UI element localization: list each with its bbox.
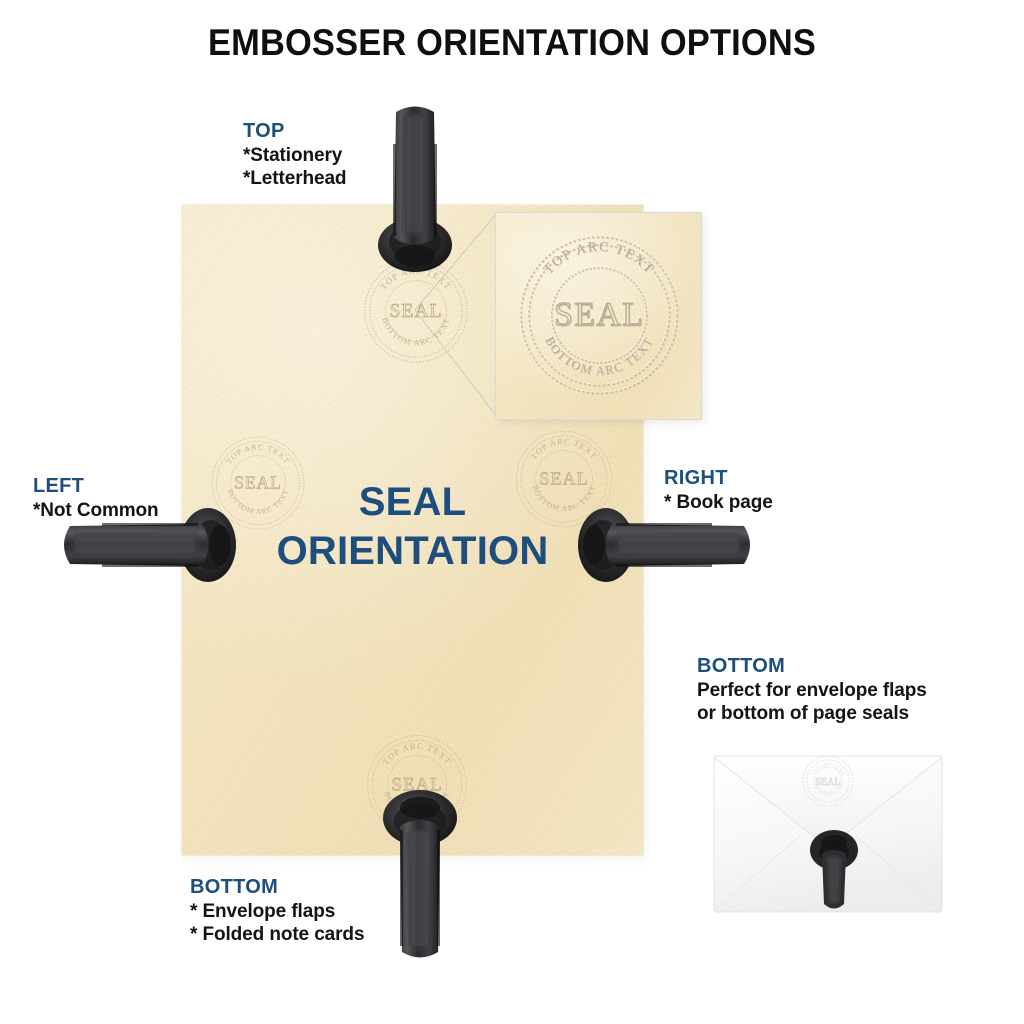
embosser-tool-top <box>374 104 456 276</box>
label-right-heading: RIGHT <box>664 467 773 491</box>
seal-impression-zoomed: TOP ARC TEXT BOTTOM ARC TEXT SEAL <box>510 226 688 404</box>
label-left: LEFT *Not Common <box>33 475 159 522</box>
label-bottom-envelope-line-2: or bottom of page seals <box>697 702 927 726</box>
label-bottom-paper-line-1: * Envelope flaps <box>190 900 364 924</box>
page-title: EMBOSSER ORIENTATION OPTIONS <box>36 22 988 64</box>
poster-canvas: EMBOSSER ORIENTATION OPTIONS TOP ARC TEX… <box>0 0 1024 1024</box>
label-bottom-paper: BOTTOM * Envelope flaps * Folded note ca… <box>190 876 364 947</box>
center-caption: SEAL ORIENTATION <box>182 478 643 576</box>
label-top-line-2: *Letterhead <box>243 167 346 191</box>
label-bottom-envelope: BOTTOM Perfect for envelope flaps or bot… <box>697 655 927 726</box>
envelope-illustration: TOP ARC TEXT BOTTOM ARC TEXT SEAL <box>712 752 944 916</box>
label-left-heading: LEFT <box>33 475 159 499</box>
center-caption-line-2: ORIENTATION <box>182 527 643 576</box>
svg-text:SEAL: SEAL <box>554 296 644 333</box>
label-top-heading: TOP <box>243 120 346 144</box>
svg-text:SEAL: SEAL <box>816 777 841 788</box>
svg-text:BOTTOM ARC TEXT: BOTTOM ARC TEXT <box>542 334 656 377</box>
zoomed-seal-callout: TOP ARC TEXT BOTTOM ARC TEXT SEAL <box>495 212 702 420</box>
label-left-line-1: *Not Common <box>33 499 159 523</box>
label-right: RIGHT * Book page <box>664 467 773 514</box>
svg-text:TOP ARC TEXT: TOP ARC TEXT <box>540 239 657 277</box>
label-bottom-paper-heading: BOTTOM <box>190 876 364 900</box>
label-top-line-1: *Stationery <box>243 144 346 168</box>
label-bottom-envelope-line-1: Perfect for envelope flaps <box>697 679 927 703</box>
center-caption-line-1: SEAL <box>182 478 643 527</box>
label-bottom-paper-line-2: * Folded note cards <box>190 923 364 947</box>
embosser-tool-bottom <box>378 786 462 962</box>
label-bottom-envelope-heading: BOTTOM <box>697 655 927 679</box>
label-top: TOP *Stationery *Letterhead <box>243 120 346 191</box>
label-right-line-1: * Book page <box>664 491 773 515</box>
